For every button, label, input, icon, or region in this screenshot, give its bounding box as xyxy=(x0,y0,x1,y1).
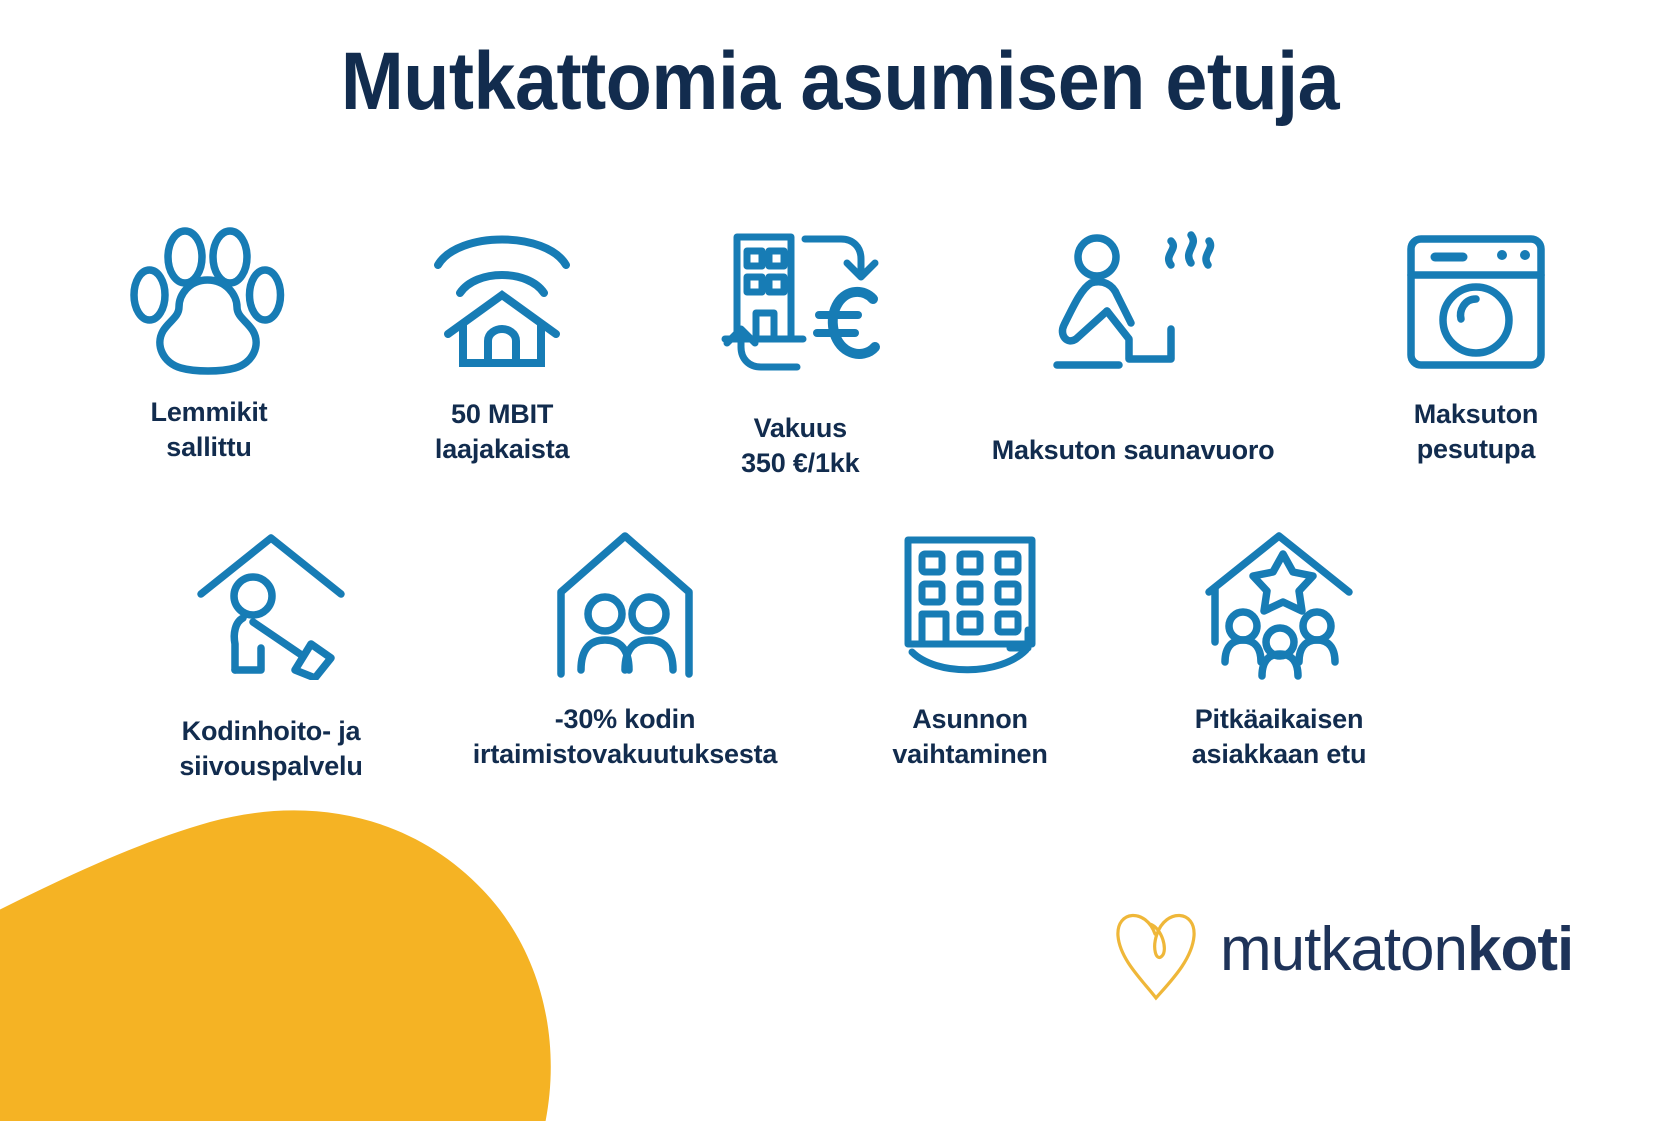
roof-cleaning-person-icon xyxy=(191,530,351,680)
benefit-cleaning: Kodinhoito- ja siivouspalvelu xyxy=(111,520,431,783)
roof-star-family-icon xyxy=(1199,530,1359,680)
benefit-icon-wrap xyxy=(713,212,888,377)
benefit-icon-wrap xyxy=(422,212,582,377)
benefit-icon-wrap xyxy=(191,520,351,680)
benefits-row-1: Lemmikit sallittu 50 MBIT laajakaista xyxy=(60,212,1620,480)
benefit-swap: Asunnon vaihtaminen xyxy=(825,520,1115,771)
sauna-person-steam-icon xyxy=(1051,227,1216,377)
yellow-blob-shape xyxy=(0,800,600,1121)
wifi-house-icon xyxy=(422,217,582,377)
infographic-poster: Mutkattomia asumisen etuja Lemmikit sall… xyxy=(0,0,1680,1121)
benefit-insurance: -30% kodin irtaimistovakuutuksesta xyxy=(445,520,805,771)
page-title: Mutkattomia asumisen etuja xyxy=(67,38,1613,127)
benefit-icon-wrap xyxy=(129,212,289,377)
paw-print-icon xyxy=(129,217,289,377)
benefit-label: Maksuton saunavuoro xyxy=(992,433,1275,468)
benefit-icon-wrap xyxy=(1199,520,1359,680)
house-family-icon xyxy=(545,530,705,680)
benefit-sauna: Maksuton saunavuoro xyxy=(954,212,1312,468)
logo-word-light: mutkaton xyxy=(1220,915,1467,984)
benefit-loyalty: Pitkäaikaisen asiakkaan etu xyxy=(1129,520,1429,771)
heart-icon xyxy=(1110,890,1200,1010)
building-euro-exchange-icon xyxy=(713,227,888,377)
benefit-icon-wrap xyxy=(1401,212,1551,377)
benefit-icon-wrap xyxy=(545,520,705,680)
apartment-block-swap-icon xyxy=(890,530,1050,680)
logo-wordmark: mutkatonkoti xyxy=(1220,919,1573,981)
benefit-pets: Lemmikit sallittu xyxy=(60,212,358,464)
logo-word-bold: koti xyxy=(1467,915,1573,984)
benefit-laundry: Maksuton pesutupa xyxy=(1332,212,1620,466)
benefit-label: Kodinhoito- ja siivouspalvelu xyxy=(179,714,362,783)
brand-logo[interactable]: mutkatonkoti xyxy=(1110,890,1573,1010)
benefit-icon-wrap xyxy=(1051,212,1216,377)
benefit-label: Vakuus 350 €/1kk xyxy=(741,411,859,480)
benefit-deposit: Vakuus 350 €/1kk xyxy=(656,212,944,480)
washing-machine-icon xyxy=(1401,227,1551,377)
benefits-row-2: Kodinhoito- ja siivouspalvelu -30% kodin… xyxy=(110,520,1430,783)
benefit-broadband: 50 MBIT laajakaista xyxy=(368,212,636,466)
benefit-label: Pitkäaikaisen asiakkaan etu xyxy=(1192,702,1367,771)
benefit-label: 50 MBIT laajakaista xyxy=(435,397,569,466)
benefit-icon-wrap xyxy=(890,520,1050,680)
benefit-label: Asunnon vaihtaminen xyxy=(892,702,1047,771)
benefit-label: Lemmikit sallittu xyxy=(151,395,268,464)
benefit-label: -30% kodin irtaimistovakuutuksesta xyxy=(473,702,778,771)
benefit-label: Maksuton pesutupa xyxy=(1414,397,1538,466)
